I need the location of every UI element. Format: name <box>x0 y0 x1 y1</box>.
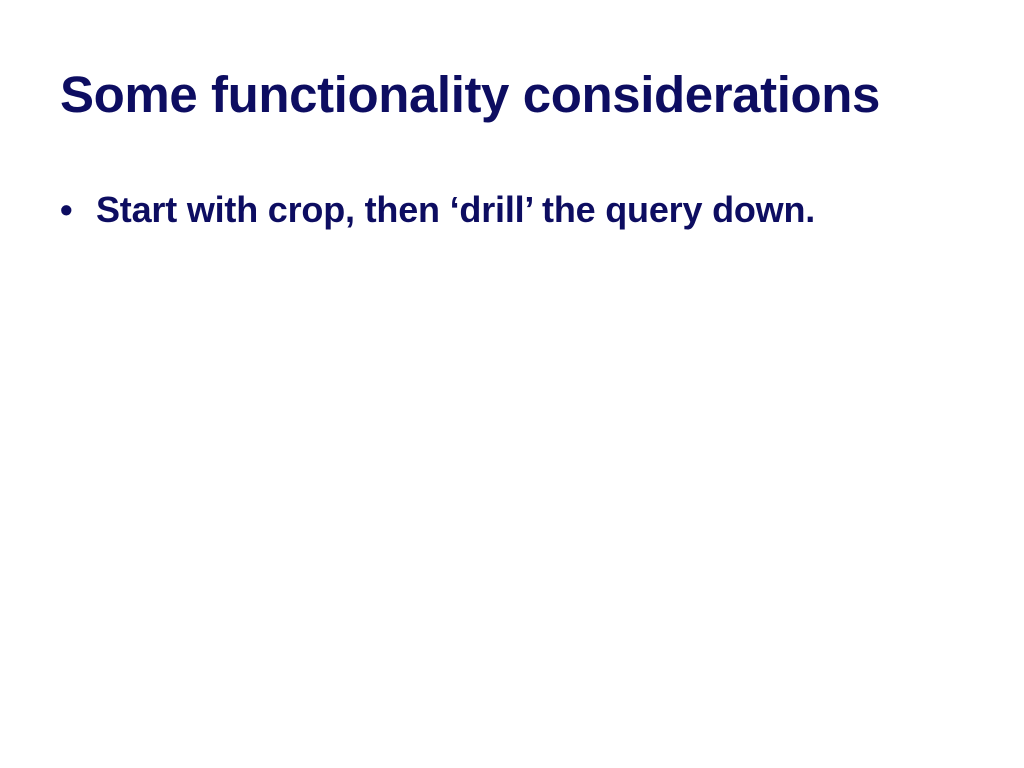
empty-content-area <box>0 250 1024 768</box>
slide-canvas: Some functionality considerations • Star… <box>0 0 1024 768</box>
bullet-point-icon: • <box>60 188 96 232</box>
list-item: • Start with crop, then ‘drill’ the quer… <box>60 188 980 232</box>
page-title: Some functionality considerations <box>60 66 964 123</box>
bullet-item-label: Start with crop, then ‘drill’ the query … <box>96 188 980 232</box>
bullet-list: • Start with crop, then ‘drill’ the quer… <box>60 188 980 232</box>
